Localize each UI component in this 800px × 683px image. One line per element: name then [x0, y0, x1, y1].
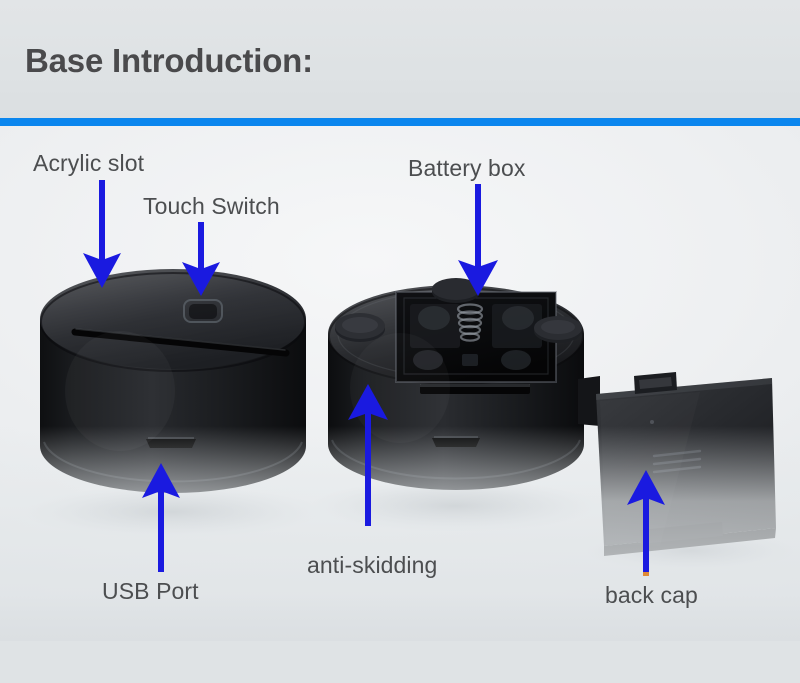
- base-unit-left: [40, 269, 306, 493]
- infographic-page: Base Introduction:: [0, 0, 800, 683]
- base-unit-middle: [328, 278, 584, 490]
- callout-label-acrylic-slot: Acrylic slot: [33, 150, 144, 177]
- callout-label-battery-box: Battery box: [408, 155, 525, 182]
- usb-port-feature-middle: [432, 437, 480, 447]
- callout-label-back-cap: back cap: [605, 582, 698, 609]
- callout-label-touch-switch: Touch Switch: [143, 193, 280, 220]
- callout-label-anti-skidding: anti-skidding: [307, 552, 437, 579]
- battery-back-cap: [578, 372, 776, 556]
- callout-label-usb-port: USB Port: [102, 578, 199, 605]
- title-divider: [0, 118, 800, 126]
- page-title: Base Introduction:: [25, 42, 313, 80]
- usb-port-feature: [146, 438, 196, 448]
